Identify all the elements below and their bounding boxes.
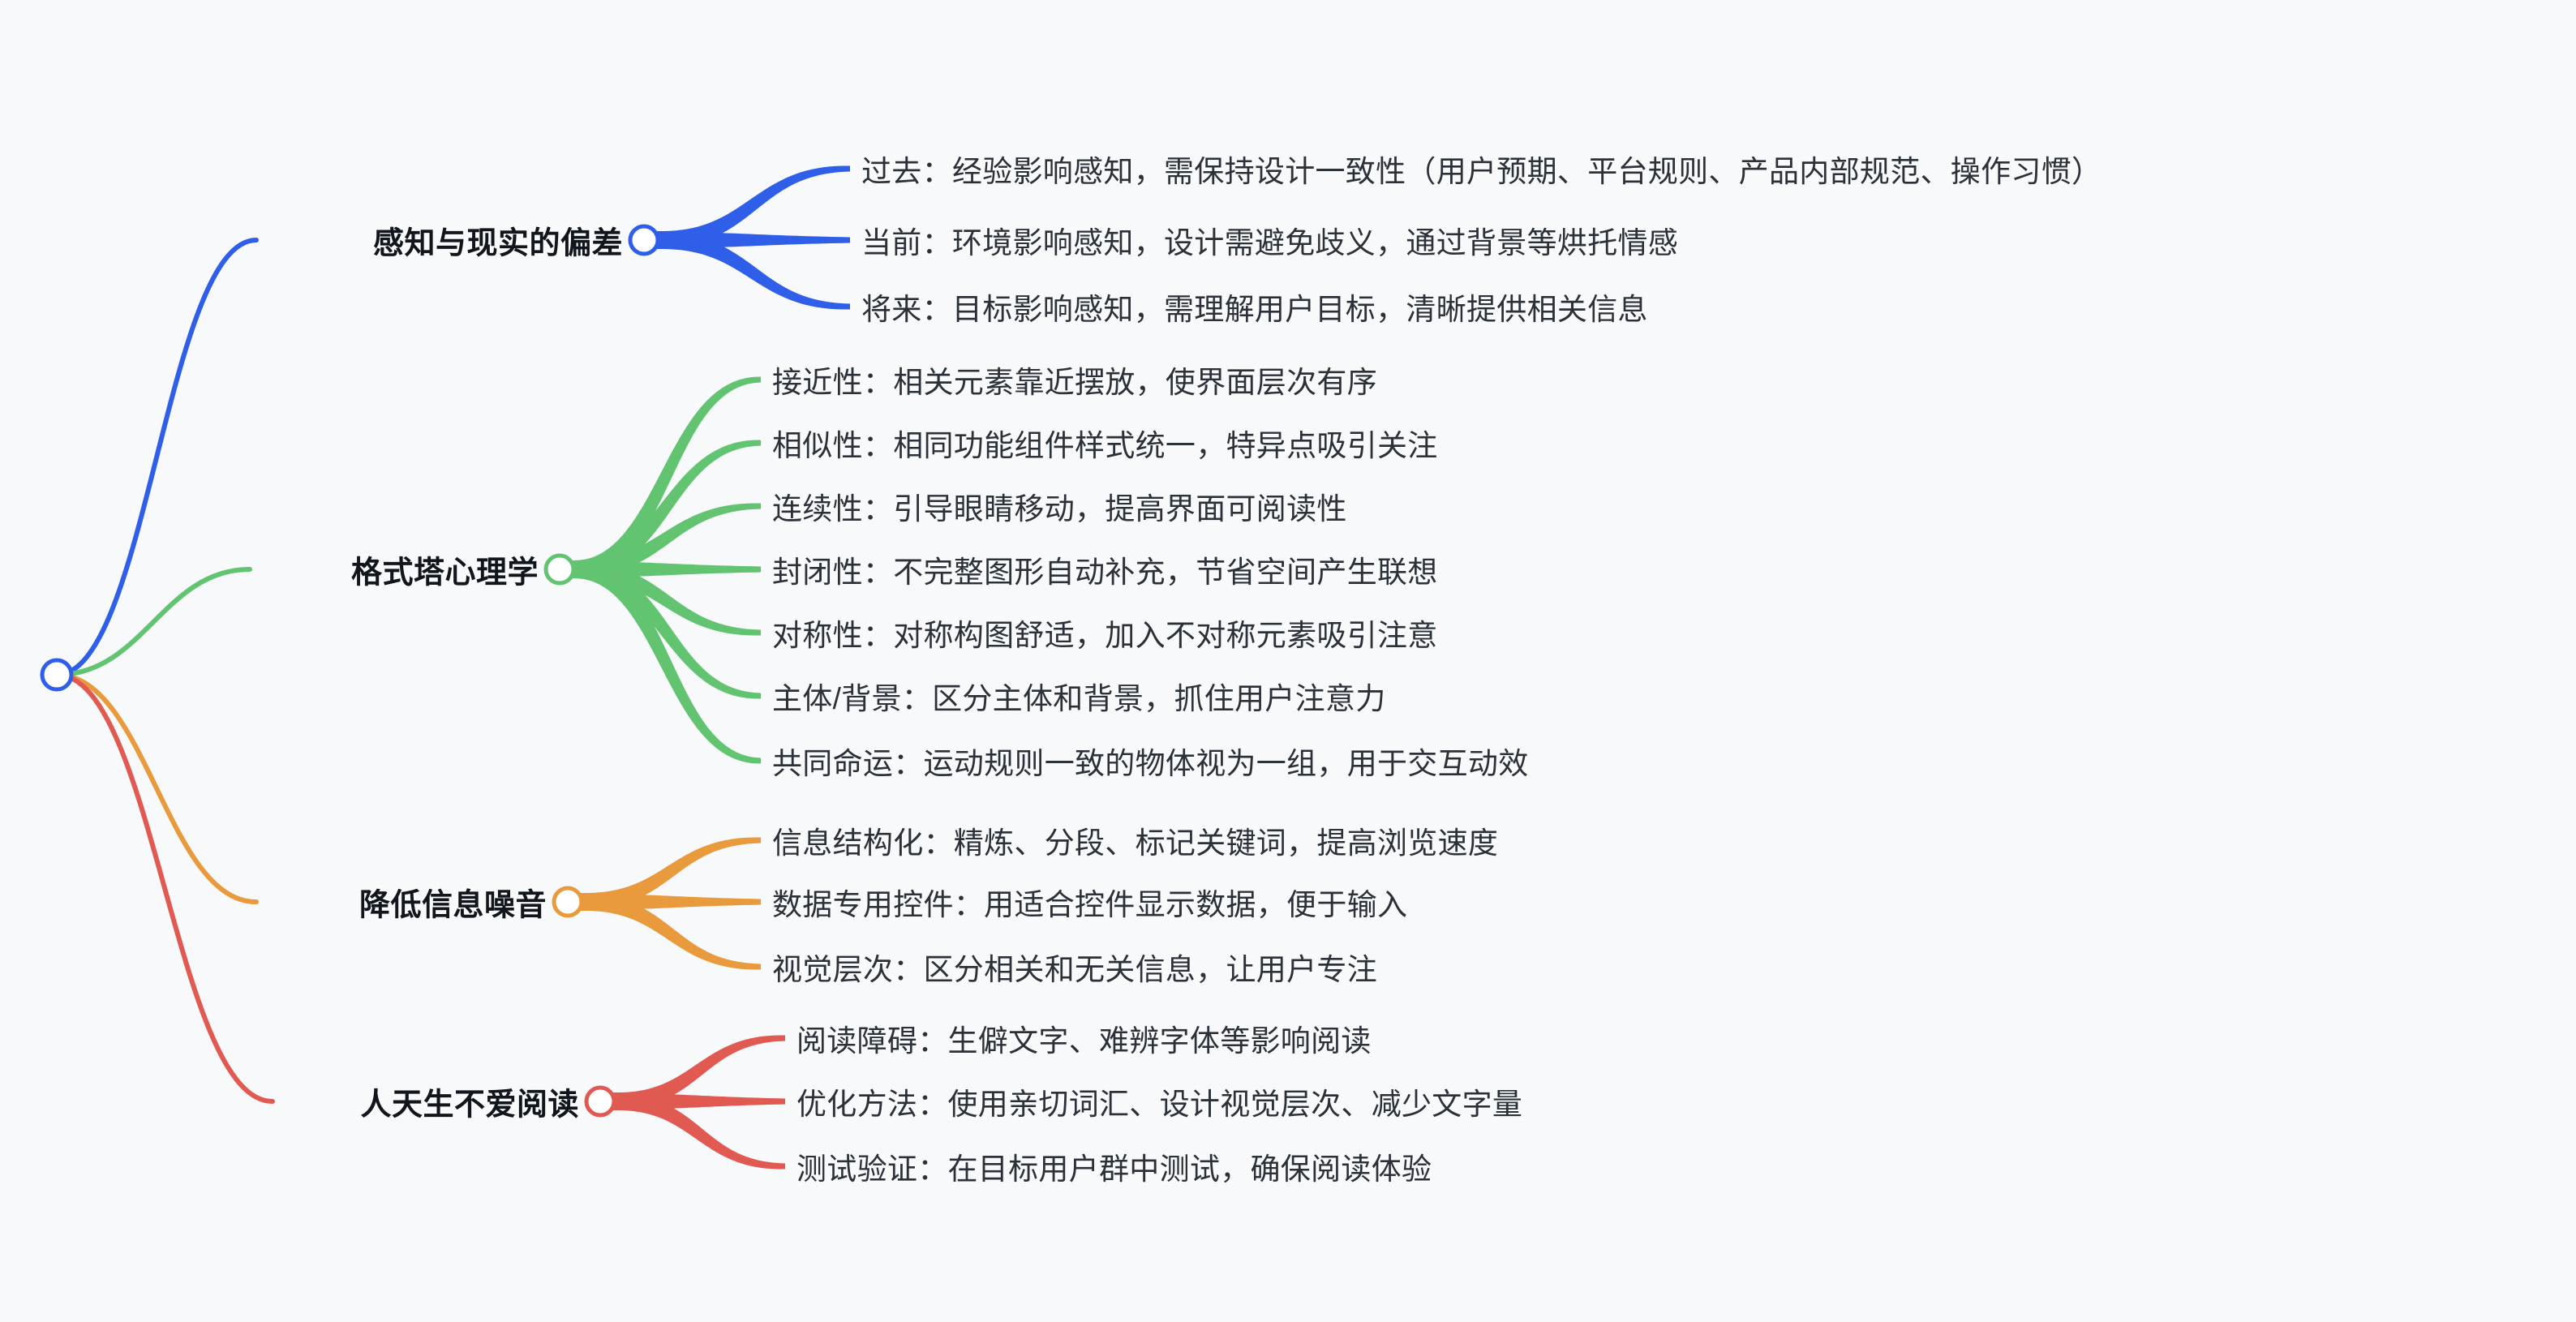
sub-branch-link-branch-perception-1 <box>657 231 850 249</box>
leaf-label-branch-gestalt-0[interactable]: 接近性：相关元素靠近摆放，使界面层次有序 <box>772 358 1377 401</box>
sub-branch-link-branch-gestalt-1 <box>573 440 761 579</box>
leaf-label-branch-perception-2[interactable]: 将来：目标影响感知，需理解用户目标，清晰提供相关信息 <box>861 285 1648 328</box>
connector-layer <box>57 165 850 1169</box>
sub-branch-link-branch-gestalt-4 <box>573 560 761 636</box>
sub-branch-link-branch-perception-2 <box>657 231 850 310</box>
sub-branch-link-branch-perception-0 <box>657 165 850 249</box>
leaf-label-branch-reading-2[interactable]: 测试验证：在目标用户群中测试，确保阅读体验 <box>796 1144 1432 1188</box>
mindmap-canvas: 感知与现实的偏差过去：经验影响感知，需保持设计一致性（用户预期、平台规则、产品内… <box>0 0 2576 1322</box>
main-branch-link-branch-gestalt <box>57 569 250 675</box>
leaf-label-branch-noise-2[interactable]: 视觉层次：区分相关和无关信息，让用户专注 <box>772 945 1377 989</box>
node-marker-branch-gestalt[interactable] <box>546 556 573 583</box>
sub-branch-link-branch-gestalt-2 <box>573 503 761 578</box>
sub-branch-link-branch-gestalt-3 <box>573 560 761 578</box>
sub-branch-link-branch-noise-1 <box>581 893 761 911</box>
leaf-label-branch-perception-0[interactable]: 过去：经验影响感知，需保持设计一致性（用户预期、平台规则、产品内部规范、操作习惯… <box>861 147 2102 191</box>
leaf-label-branch-noise-1[interactable]: 数据专用控件：用适合控件显示数据，便于输入 <box>772 880 1407 924</box>
leaf-label-branch-perception-1[interactable]: 当前：环境影响感知，设计需避免歧义，通过背景等烘托情感 <box>861 218 1678 262</box>
leaf-label-branch-gestalt-5[interactable]: 主体/背景：区分主体和背景，抓住用户注意力 <box>772 674 1386 718</box>
sub-branch-link-branch-reading-0 <box>613 1035 785 1110</box>
sub-branch-link-branch-noise-0 <box>581 837 761 911</box>
topic-label-branch-noise[interactable]: 降低信息噪音 <box>359 880 547 925</box>
main-branch-link-branch-noise <box>57 675 256 902</box>
topic-label-branch-gestalt[interactable]: 格式塔心理学 <box>351 547 539 592</box>
sub-branch-link-branch-reading-2 <box>613 1092 785 1170</box>
sub-branch-link-branch-gestalt-6 <box>573 560 761 764</box>
mindmap-connectors <box>0 0 2576 1322</box>
leaf-label-branch-reading-0[interactable]: 阅读障碍：生僻文字、难辨字体等影响阅读 <box>796 1016 1372 1060</box>
sub-branch-link-branch-gestalt-5 <box>573 560 761 699</box>
main-branch-link-branch-perception <box>57 240 256 675</box>
root-node-marker[interactable] <box>42 660 71 689</box>
leaf-label-branch-reading-1[interactable]: 优化方法：使用亲切词汇、设计视觉层次、减少文字量 <box>796 1079 1522 1123</box>
leaf-label-branch-gestalt-4[interactable]: 对称性：对称构图舒适，加入不对称元素吸引注意 <box>772 611 1438 655</box>
node-marker-branch-reading[interactable] <box>586 1088 614 1115</box>
sub-branch-link-branch-reading-1 <box>613 1092 785 1110</box>
leaf-label-branch-gestalt-2[interactable]: 连续性：引导眼睛移动，提高界面可阅读性 <box>772 484 1347 528</box>
leaf-label-branch-gestalt-3[interactable]: 封闭性：不完整图形自动补充，节省空间产生联想 <box>772 547 1438 591</box>
main-branch-link-branch-reading <box>57 675 273 1101</box>
topic-label-branch-reading[interactable]: 人天生不爱阅读 <box>360 1079 579 1124</box>
node-marker-layer <box>42 226 658 1115</box>
sub-branch-link-branch-noise-2 <box>581 893 761 970</box>
leaf-label-branch-gestalt-6[interactable]: 共同命运：运动规则一致的物体视为一组，用于交互动效 <box>772 739 1529 783</box>
leaf-label-branch-gestalt-1[interactable]: 相似性：相同功能组件样式统一，特异点吸引关注 <box>772 421 1438 465</box>
topic-label-branch-perception[interactable]: 感知与现实的偏差 <box>373 218 623 263</box>
node-marker-branch-noise[interactable] <box>554 888 582 916</box>
node-marker-branch-perception[interactable] <box>630 226 658 254</box>
sub-branch-link-branch-gestalt-0 <box>573 377 761 579</box>
leaf-label-branch-noise-0[interactable]: 信息结构化：精炼、分段、标记关键词，提高浏览速度 <box>772 818 1498 862</box>
